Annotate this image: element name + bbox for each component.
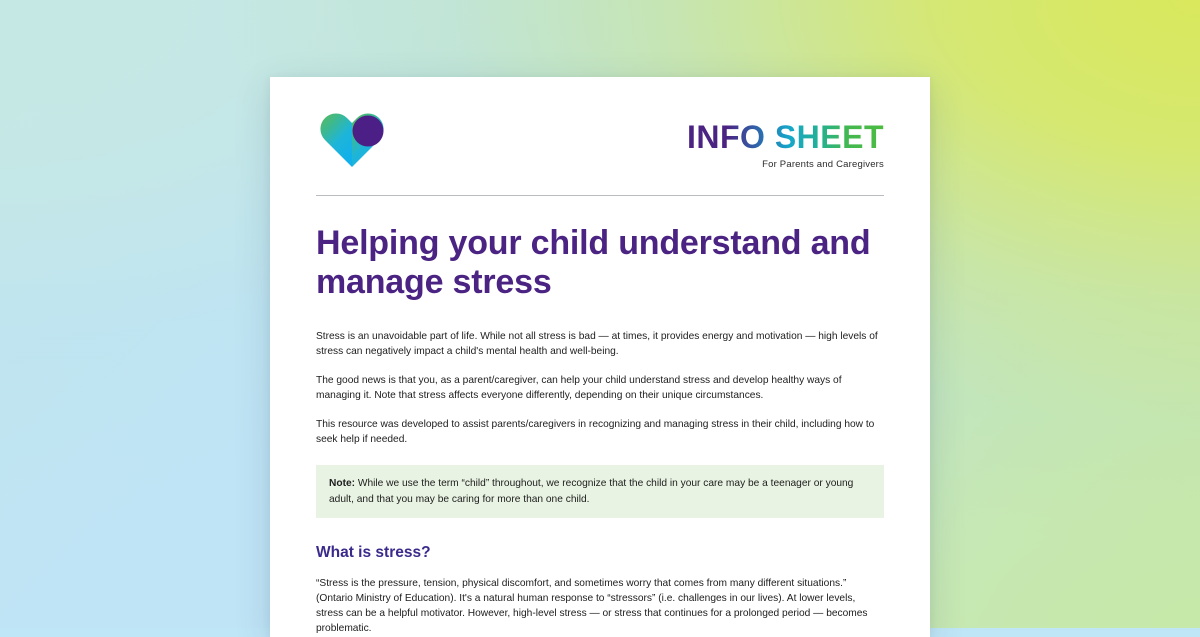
section-heading-what-is-stress: What is stress? <box>316 544 884 562</box>
note-callout: Note: While we use the term “child” thro… <box>316 465 884 518</box>
info-sheet-document-card: INFO SHEET For Parents and Caregivers He… <box>270 77 930 637</box>
note-label: Note: <box>329 478 355 489</box>
header-divider <box>316 195 884 196</box>
info-sheet-wordmark: INFO SHEET <box>687 121 884 153</box>
intro-paragraph-3: This resource was developed to assist pa… <box>316 417 884 447</box>
section-paragraph: “Stress is the pressure, tension, physic… <box>316 576 884 636</box>
intro-paragraph-2: The good news is that you, as a parent/c… <box>316 373 884 403</box>
note-text: While we use the term “child” throughout… <box>329 478 853 504</box>
brand-subtitle: For Parents and Caregivers <box>687 159 884 170</box>
document-header: INFO SHEET For Parents and Caregivers <box>316 105 884 187</box>
page-title: Helping your child understand and manage… <box>316 224 884 303</box>
heart-logo-icon <box>316 109 388 171</box>
heart-logo <box>316 109 388 171</box>
brand-block: INFO SHEET For Parents and Caregivers <box>687 121 884 170</box>
intro-paragraph-1: Stress is an unavoidable part of life. W… <box>316 329 884 359</box>
